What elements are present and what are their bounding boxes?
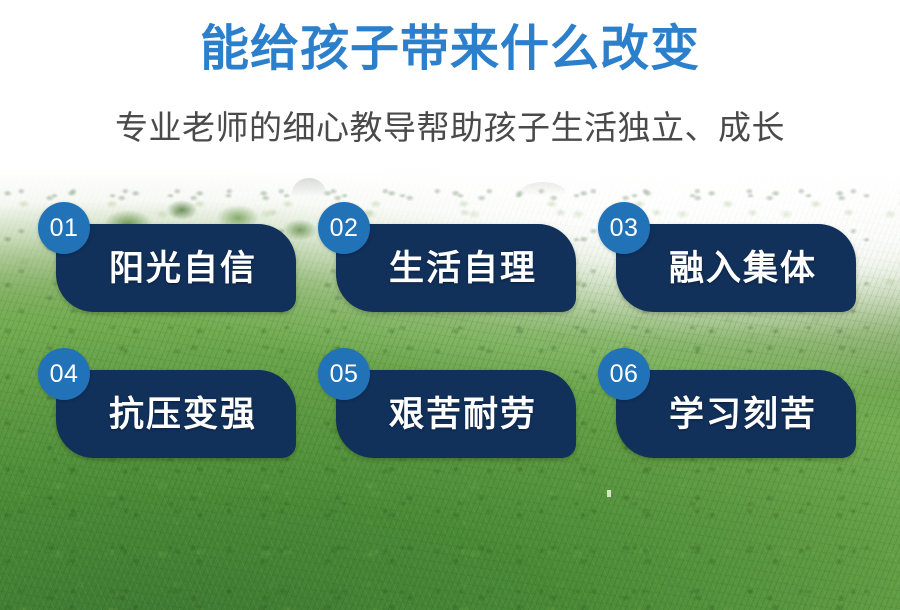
feature-card-label: 阳光自信 bbox=[95, 251, 257, 286]
feature-card-number-badge: 06 bbox=[598, 348, 650, 400]
feature-card-body[interactable]: 生活自理 bbox=[336, 224, 576, 312]
feature-card-body[interactable]: 抗压变强 bbox=[56, 370, 296, 458]
feature-card-number-badge: 01 bbox=[38, 202, 90, 254]
feature-card-label: 抗压变强 bbox=[95, 397, 257, 432]
feature-card-grid: 阳光自信 01 生活自理 02 融入集体 03 抗压变强 04 艰苦耐劳 bbox=[0, 0, 900, 610]
feature-card-1[interactable]: 阳光自信 01 bbox=[38, 224, 278, 312]
feature-card-3[interactable]: 融入集体 03 bbox=[598, 224, 838, 312]
promo-page: 能给孩子带来什么改变 专业老师的细心教导帮助孩子生活独立、成长 阳光自信 01 … bbox=[0, 0, 900, 610]
feature-card-body[interactable]: 艰苦耐劳 bbox=[336, 370, 576, 458]
feature-card-body[interactable]: 融入集体 bbox=[616, 224, 856, 312]
feature-card-4[interactable]: 抗压变强 04 bbox=[38, 370, 278, 458]
feature-card-5[interactable]: 艰苦耐劳 05 bbox=[318, 370, 558, 458]
feature-card-number-badge: 04 bbox=[38, 348, 90, 400]
feature-card-number-badge: 05 bbox=[318, 348, 370, 400]
feature-card-label: 生活自理 bbox=[375, 251, 537, 286]
feature-card-label: 学习刻苦 bbox=[655, 397, 817, 432]
feature-card-2[interactable]: 生活自理 02 bbox=[318, 224, 558, 312]
feature-card-label: 艰苦耐劳 bbox=[375, 397, 537, 432]
feature-card-body[interactable]: 学习刻苦 bbox=[616, 370, 856, 458]
feature-card-number-badge: 02 bbox=[318, 202, 370, 254]
feature-card-6[interactable]: 学习刻苦 06 bbox=[598, 370, 838, 458]
feature-card-label: 融入集体 bbox=[655, 251, 817, 286]
feature-card-body[interactable]: 阳光自信 bbox=[56, 224, 296, 312]
feature-card-number-badge: 03 bbox=[598, 202, 650, 254]
